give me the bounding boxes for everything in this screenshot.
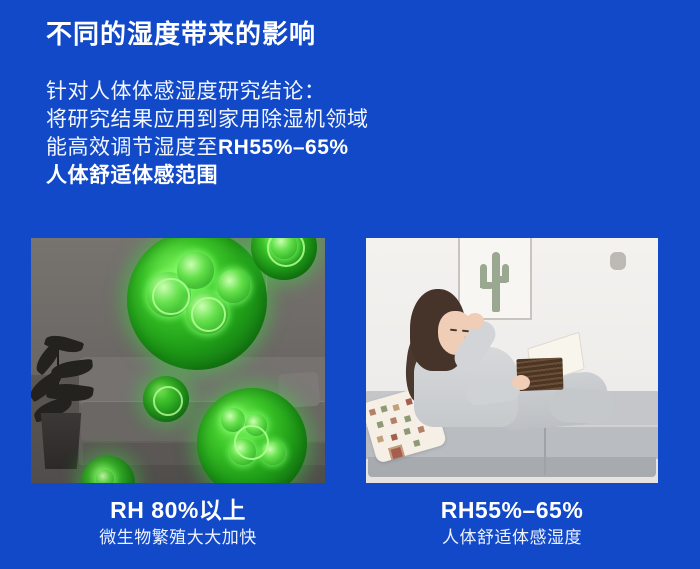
microbe-blob	[217, 269, 251, 303]
body-line-1: 针对人体体感湿度研究结论：	[46, 78, 566, 106]
microbe-ring	[267, 238, 305, 267]
caption-row: RH 80%以上 微生物繁殖大大加快 RH55%–65% 人体舒适体感湿度	[0, 495, 700, 565]
body-line-3: 能高效调节湿度至RH55%–65%	[46, 134, 566, 162]
microbe-blob	[96, 470, 114, 483]
body-line-4: 人体舒适体感范围	[46, 162, 566, 190]
pillow-pattern-dot	[377, 435, 384, 442]
photo-left-mold-scene	[31, 238, 325, 483]
cactus-arm-left	[480, 264, 487, 288]
dark-living-room-illustration	[31, 238, 325, 483]
caption-right-title: RH55%–65%	[366, 495, 658, 525]
woman-hand-holding-book	[512, 375, 530, 390]
microbe-ring	[152, 278, 190, 316]
photo-right-comfort-scene	[366, 238, 658, 483]
woman-legs-lower	[549, 387, 615, 425]
dark-potted-plant	[31, 319, 103, 469]
pillow-pattern-dot	[380, 405, 387, 412]
body-line-2: 将研究结果应用到家用除湿机领域	[46, 106, 566, 134]
pillow-pattern-dot	[390, 417, 397, 424]
page-title: 不同的湿度带来的影响	[46, 17, 316, 51]
light-sofa-base	[368, 457, 656, 477]
caption-right-subtitle: 人体舒适体感湿度	[366, 525, 658, 551]
caption-left-subtitle: 微生物繁殖大大加快	[31, 525, 325, 551]
plant-pot	[39, 413, 83, 469]
pillow-pattern-dot	[377, 421, 384, 428]
microbe-sphere-icon	[143, 376, 189, 422]
caption-left-title: RH 80%以上	[31, 495, 325, 525]
pillow-pattern-dot	[369, 409, 376, 416]
cactus-arm-right	[502, 264, 509, 282]
bright-living-room-illustration	[366, 238, 658, 483]
woman-reading-figure	[400, 289, 600, 459]
woman-hand-on-head	[466, 313, 484, 329]
pillow-pattern-dot	[391, 433, 398, 440]
caption-right: RH55%–65% 人体舒适体感湿度	[366, 495, 658, 551]
photo-row	[0, 238, 700, 483]
body-copy: 针对人体体感湿度研究结论： 将研究结果应用到家用除湿机领域 能高效调节湿度至RH…	[46, 78, 566, 190]
pillow-pattern-dot	[392, 404, 399, 411]
poster-canvas: 不同的湿度带来的影响 针对人体体感湿度研究结论： 将研究结果应用到家用除湿机领域…	[0, 0, 700, 569]
caption-left: RH 80%以上 微生物繁殖大大加快	[31, 495, 325, 551]
microbe-ring	[191, 297, 226, 332]
wall-switch-icon	[610, 252, 626, 270]
humidity-range-emphasis: RH55%–65%	[218, 136, 349, 159]
body-line-3-prefix: 能高效调节湿度至	[46, 136, 218, 159]
microbe-ring	[153, 386, 183, 416]
